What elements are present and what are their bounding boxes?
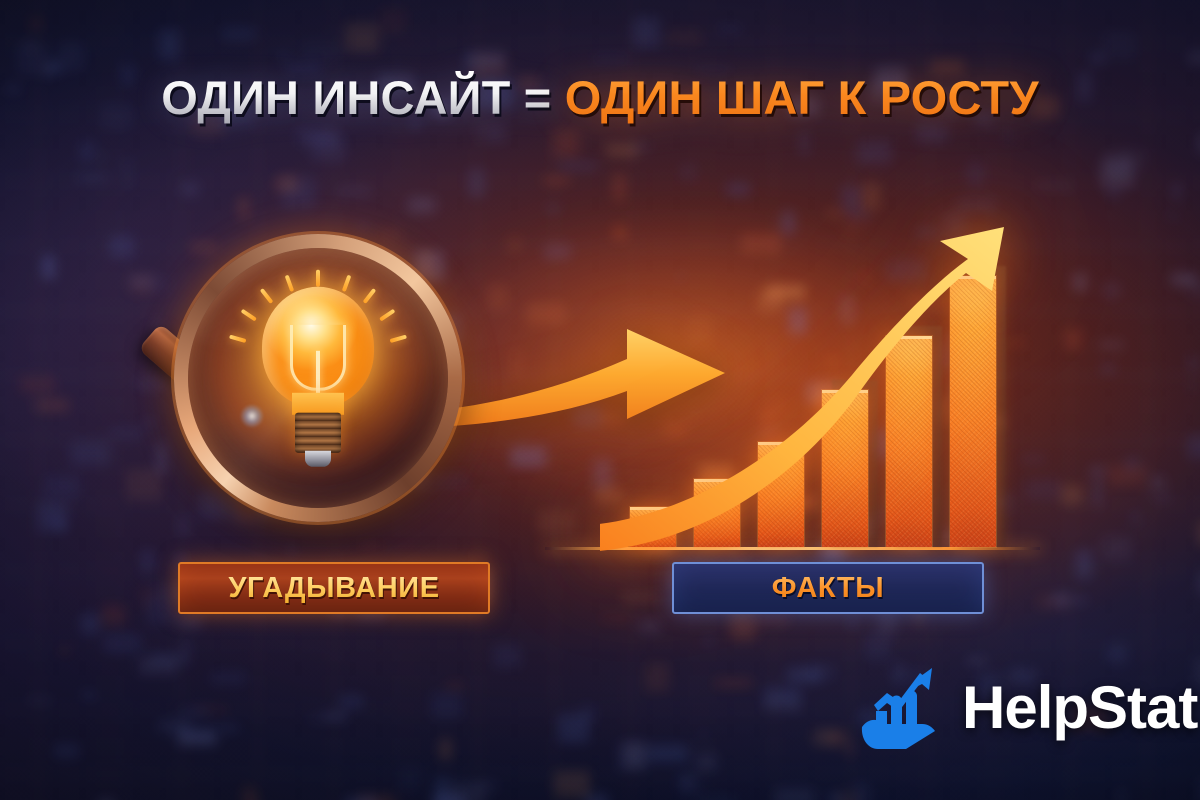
label-facts-text: ФАКТЫ — [772, 572, 885, 605]
brand-name: HelpStat — [962, 678, 1197, 738]
brand-logo: HelpStat — [856, 660, 1197, 756]
magnifier-ring — [174, 234, 462, 522]
growth-arrow-icon — [600, 225, 1020, 555]
bulb-contact-tip — [305, 451, 331, 467]
bulb-neck — [292, 393, 344, 415]
page-title: ОДИН ИНСАЙТ = ОДИН ШАГ К РОСТУ — [0, 74, 1200, 121]
banner-canvas: ОДИН ИНСАЙТ = ОДИН ШАГ К РОСТУ — [0, 0, 1200, 800]
magnifier-lens — [188, 248, 448, 508]
bulb-ray-4 — [316, 270, 320, 287]
bulb-filament — [290, 325, 346, 391]
label-box-guessing: УГАДЫВАНИЕ — [178, 562, 490, 614]
magnifying-glass-icon — [150, 228, 470, 558]
hand-holding-bar-chart-icon — [856, 665, 948, 751]
lightbulb-icon — [228, 269, 408, 479]
label-guessing-text: УГАДЫВАНИЕ — [228, 572, 439, 605]
bulb-screw-base — [295, 413, 341, 453]
label-box-facts: ФАКТЫ — [672, 562, 984, 614]
title-part-orange: ОДИН ШАГ К РОСТУ — [565, 71, 1039, 124]
title-part-white: ОДИН ИНСАЙТ = — [161, 71, 551, 124]
